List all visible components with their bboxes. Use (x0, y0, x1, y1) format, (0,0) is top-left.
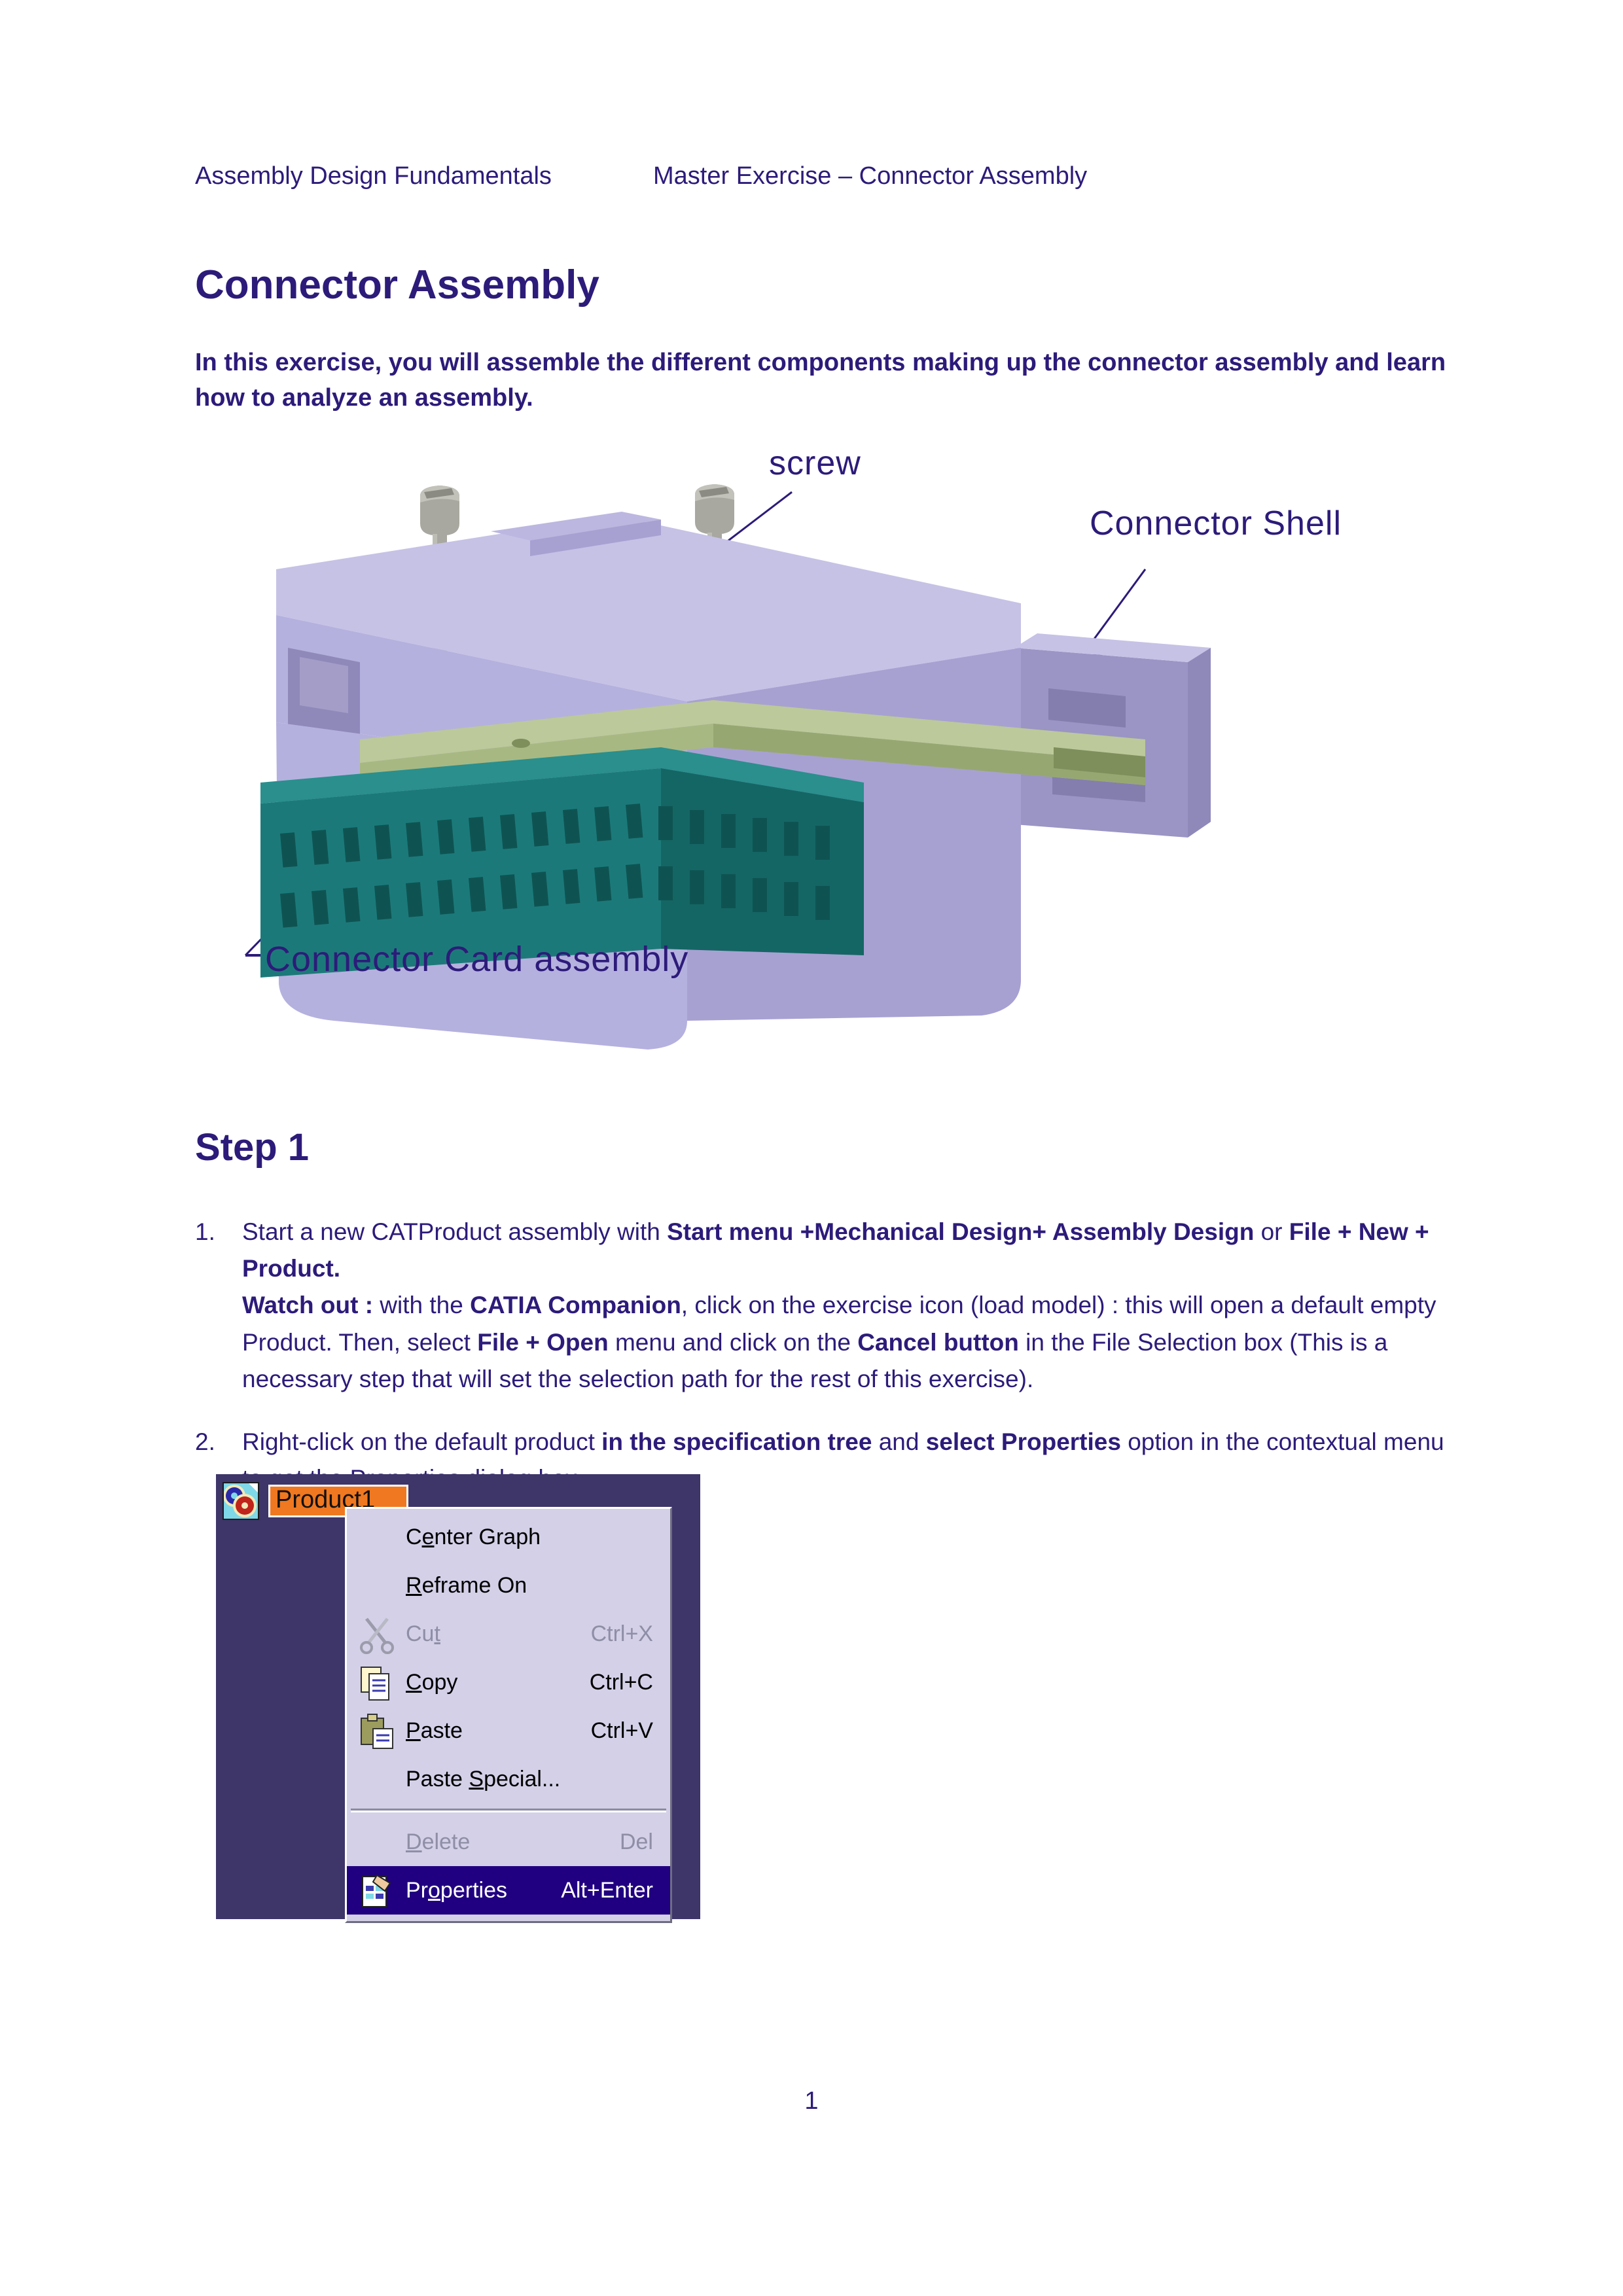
menu-item-accelerator: Alt+Enter (561, 1878, 670, 1903)
document-header: Assembly Design Fundamentals Master Exer… (195, 162, 1438, 190)
menu-item-accelerator: Ctrl+X (591, 1621, 670, 1647)
header-left-text: Assembly Design Fundamentals (195, 162, 653, 190)
list-item-number: 1. (195, 1214, 242, 1398)
menu-item-delete: Delete Del (347, 1818, 670, 1866)
figure-label-screw: screw (769, 444, 861, 483)
menu-item-label: Paste (402, 1718, 591, 1744)
step-heading: Step 1 (195, 1125, 309, 1169)
menu-icon-placeholder (353, 1565, 402, 1606)
catia-contextual-menu-screenshot: Product1 Center Graph Reframe On (216, 1474, 700, 1919)
menu-item-copy[interactable]: Copy Ctrl+C (347, 1658, 670, 1706)
menu-separator (351, 1809, 666, 1812)
properties-icon (353, 1870, 402, 1911)
menu-item-accelerator: Ctrl+V (591, 1718, 670, 1744)
catproduct-icon (223, 1482, 259, 1520)
menu-icon-placeholder (353, 1517, 402, 1557)
menu-item-paste-special[interactable]: Paste Special... (347, 1755, 670, 1803)
list-item: 1. Start a new CATProduct assembly with … (195, 1214, 1458, 1398)
figure-label-connector-card-assembly: Connector Card assembly (265, 939, 688, 980)
menu-item-label: Delete (402, 1829, 620, 1855)
menu-item-label: Center Graph (402, 1525, 653, 1550)
menu-item-label: Properties (402, 1878, 561, 1903)
document-page: Assembly Design Fundamentals Master Exer… (0, 0, 1623, 2296)
menu-item-accelerator: Ctrl+C (590, 1670, 670, 1695)
menu-item-cut: Cut Ctrl+X (347, 1610, 670, 1658)
menu-item-paste[interactable]: Paste Ctrl+V (347, 1706, 670, 1755)
menu-icon-placeholder (353, 1822, 402, 1862)
menu-icon-placeholder (353, 1759, 402, 1799)
figure-label-connector-shell: Connector Shell (1090, 504, 1342, 543)
paste-icon (353, 1710, 402, 1751)
scissors-icon (353, 1614, 402, 1654)
menu-item-properties[interactable]: Properties Alt+Enter (347, 1866, 670, 1915)
menu-item-label: Copy (402, 1670, 590, 1695)
intro-paragraph: In this exercise, you will assemble the … (195, 345, 1455, 416)
list-item-text: Start a new CATProduct assembly with Sta… (242, 1214, 1458, 1398)
menu-item-label: Paste Special... (402, 1767, 653, 1792)
menu-item-accelerator: Del (620, 1829, 670, 1855)
copy-icon (353, 1662, 402, 1703)
header-right-text: Master Exercise – Connector Assembly (653, 162, 1438, 190)
connector-assembly-figure: screw Connector Shell Connector Card ass… (164, 432, 1472, 1112)
menu-item-center-graph[interactable]: Center Graph (347, 1513, 670, 1561)
menu-item-label: Cut (402, 1621, 591, 1647)
menu-item-label: Reframe On (402, 1573, 653, 1598)
contextual-menu[interactable]: Center Graph Reframe On Cut (345, 1507, 672, 1923)
menu-item-reframe-on[interactable]: Reframe On (347, 1561, 670, 1610)
page-number: 1 (0, 2087, 1623, 2115)
page-title: Connector Assembly (195, 262, 599, 308)
